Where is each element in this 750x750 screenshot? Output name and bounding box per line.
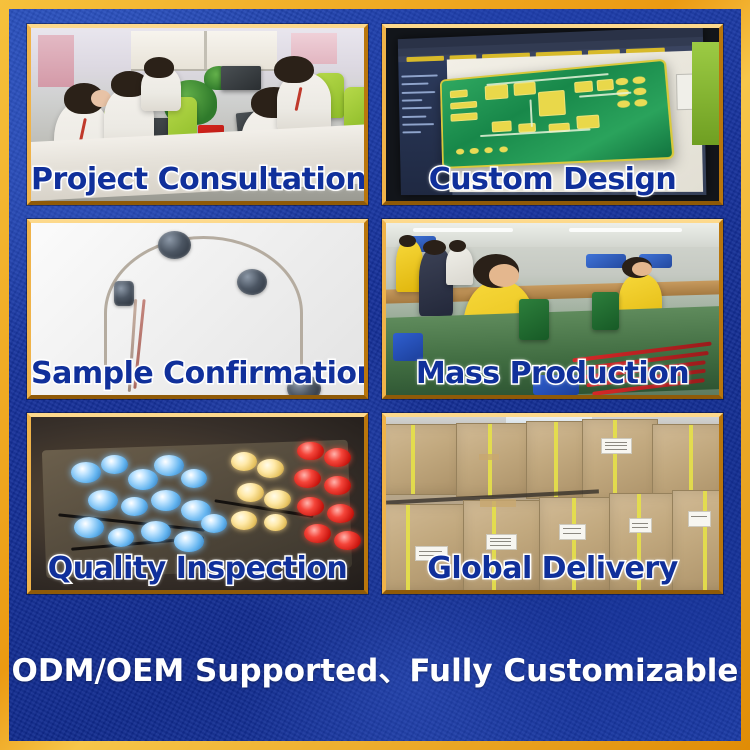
photo-global-delivery — [386, 417, 719, 590]
photo-project-consultation — [31, 28, 364, 201]
card-quality-inspection[interactable]: Quality Inspection — [27, 413, 368, 594]
card-global-delivery[interactable]: Global Delivery — [382, 413, 723, 594]
poster-background: Project Consultation — [9, 9, 741, 741]
poster-frame: Project Consultation — [0, 0, 750, 750]
card-sample-confirmation[interactable]: Sample Confirmation — [27, 219, 368, 400]
card-custom-design[interactable]: Custom Design — [382, 24, 723, 205]
card-project-consultation[interactable]: Project Consultation — [27, 24, 368, 205]
process-card-grid: Project Consultation — [27, 24, 723, 594]
banner-text: ODM/OEM Supported、Fully Customizable — [12, 645, 739, 690]
photo-quality-inspection — [31, 417, 364, 590]
photo-custom-design — [386, 28, 719, 201]
photo-sample-confirmation — [31, 223, 364, 396]
card-mass-production[interactable]: Mass Production — [382, 219, 723, 400]
photo-mass-production — [386, 223, 719, 396]
bottom-banner: ODM/OEM Supported、Fully Customizable — [27, 594, 723, 741]
